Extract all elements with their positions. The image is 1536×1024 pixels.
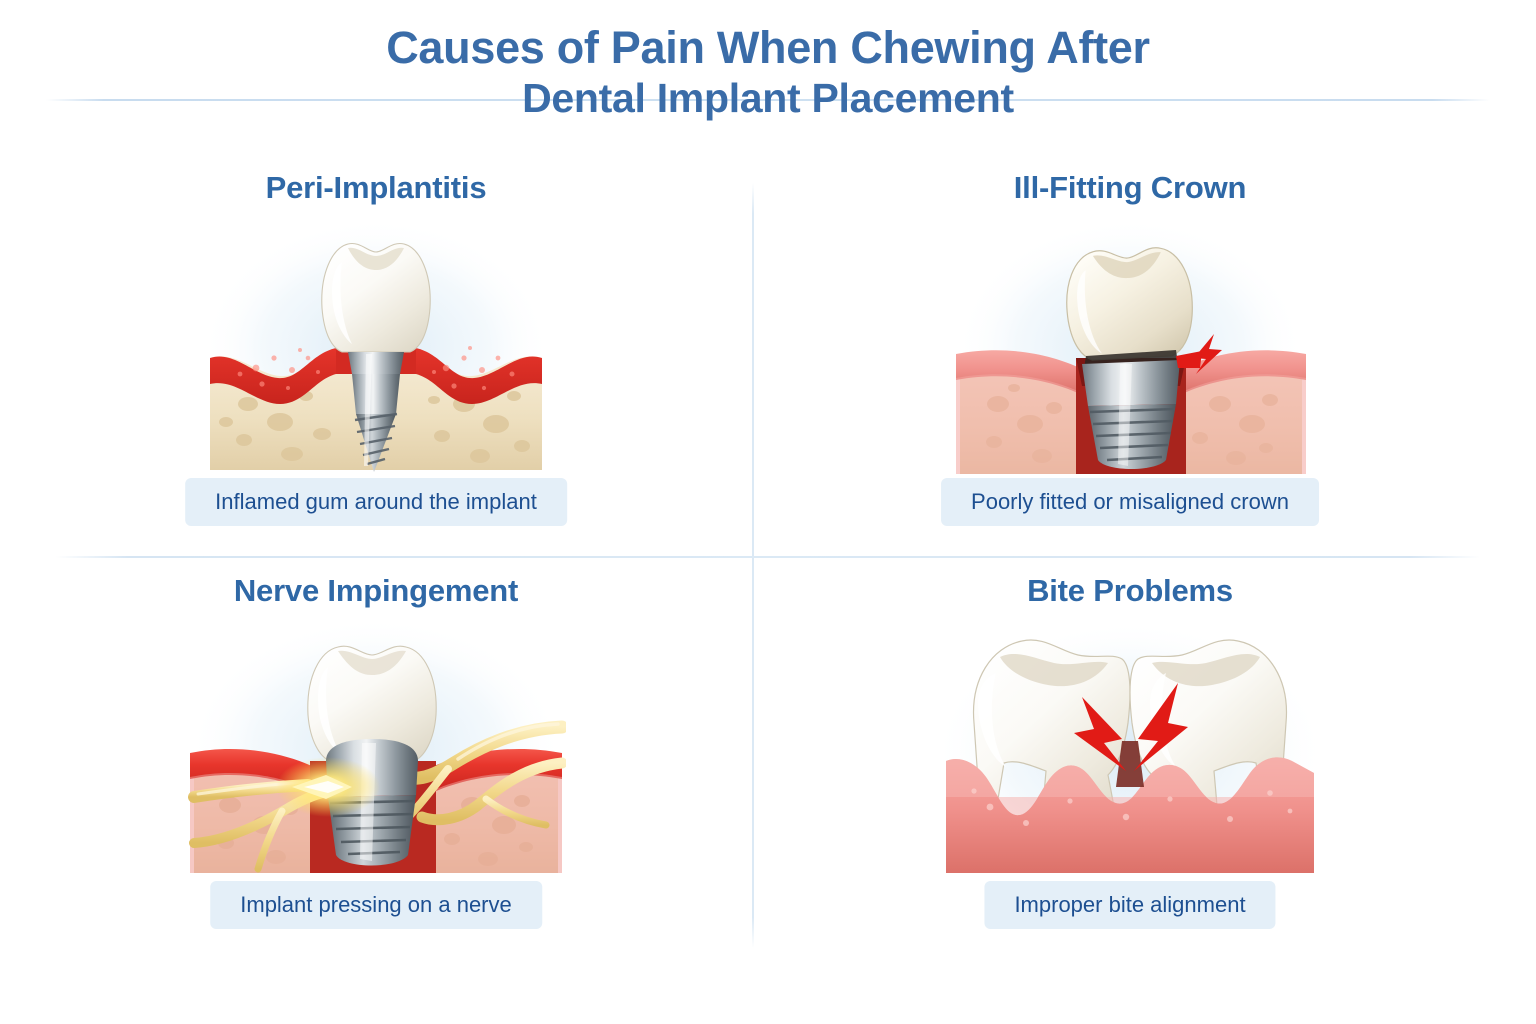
quadrant-nerve-impingement: Nerve Impingement [0,563,752,963]
quadrant-caption: Implant pressing on a nerve [210,881,542,929]
quadrant-caption: Inflamed gum around the implant [185,478,567,526]
quadrant-heading: Ill-Fitting Crown [754,170,1506,206]
quadrant-caption: Improper bite alignment [984,881,1275,929]
illustration-peri-implantitis [0,208,752,480]
page-title-line-2: Dental Implant Placement [0,77,1536,120]
quadrant-peri-implantitis: Peri-Implantitis [0,160,752,560]
quadrant-bite-problems: Bite Problems Improp [754,563,1506,963]
illustration-bite-problems [754,611,1506,883]
quadrant-heading: Peri-Implantitis [0,170,752,206]
illustration-nerve-impingement [0,611,752,883]
quadrant-ill-fitting-crown: Ill-Fitting Crown [754,160,1506,560]
quadrant-heading: Bite Problems [754,573,1506,609]
page-title-line-1: Causes of Pain When Chewing After [0,24,1536,71]
dental-implant-misaligned-crown-icon [950,208,1310,480]
dental-implant-inflamed-gum-icon [196,208,556,480]
two-molars-bite-misalignment-icon [930,611,1330,883]
illustration-ill-fitting-crown [754,208,1506,480]
quadrant-caption: Poorly fitted or misaligned crown [941,478,1319,526]
page-title: Causes of Pain When Chewing After Dental… [0,24,1536,120]
quadrant-heading: Nerve Impingement [0,573,752,609]
dental-implant-nerve-contact-icon [186,611,566,883]
